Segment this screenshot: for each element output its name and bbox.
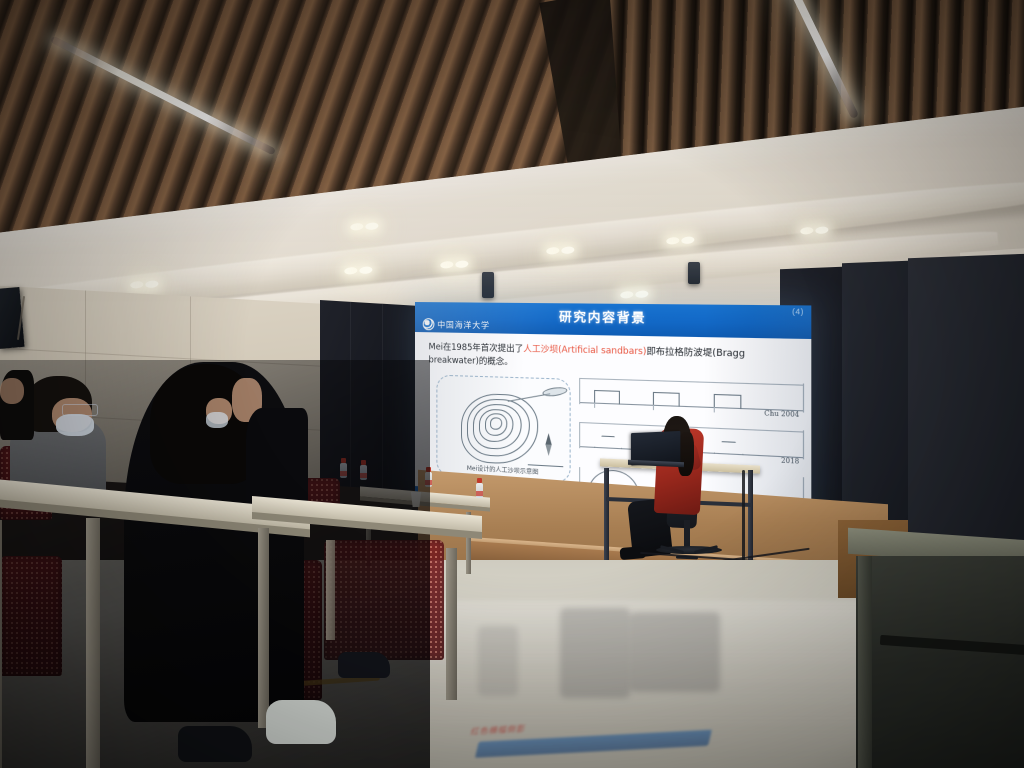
audience-member-hand (0, 378, 24, 404)
compass-rose-icon (538, 433, 555, 457)
university-seal-icon (423, 318, 435, 330)
desk-leg (258, 528, 269, 728)
desk-leg (446, 548, 457, 700)
slide-text-lead: Mei在1985年首次提出了 (429, 341, 524, 353)
audience-shoe-white (266, 700, 336, 744)
floor-reflection-desk (630, 612, 720, 692)
presenter-hair-strand (678, 432, 694, 476)
desk-leg (0, 520, 2, 768)
schematic-label-2018: 2018 (781, 457, 799, 466)
audience-shoe (178, 726, 252, 762)
face-mask (206, 412, 228, 428)
schematic-rect-bars: Chu 2004 (579, 377, 804, 417)
foreground-table-leg (858, 556, 872, 768)
ceiling-projector-mount (482, 272, 494, 298)
desk-leg (86, 518, 100, 768)
dark-wall-panel (842, 261, 908, 536)
face-mask (56, 414, 94, 436)
floor-reflection-leg (478, 626, 518, 696)
schematic-label-chu2004: Chu 2004 (764, 410, 799, 419)
lecture-hall-photo: 研究内容背景 (4) 中国海洋大学 Mei在1985年首次提出了人工沙坝(Art… (0, 0, 1024, 768)
university-logo: 中国海洋大学 (423, 318, 490, 331)
slide-page-number: (4) (792, 309, 804, 317)
slide-text-highlight: 人工沙坝(Artificial sandbars) (523, 343, 646, 356)
water-bottle (476, 478, 483, 498)
hanging-cable (742, 470, 745, 566)
ceiling-projector-mount (688, 262, 700, 284)
figure-ellipse-marker (542, 386, 568, 398)
university-logo-text: 中国海洋大学 (437, 319, 489, 331)
contour-map-figure: Mei设计的人工沙坝示意图 (436, 375, 570, 484)
floor-reflection-figure (560, 608, 630, 698)
foreground-table-body (856, 556, 1024, 768)
audience-shoe (338, 652, 390, 678)
desk-leg (326, 540, 335, 640)
dark-wall-panel (908, 254, 1024, 547)
